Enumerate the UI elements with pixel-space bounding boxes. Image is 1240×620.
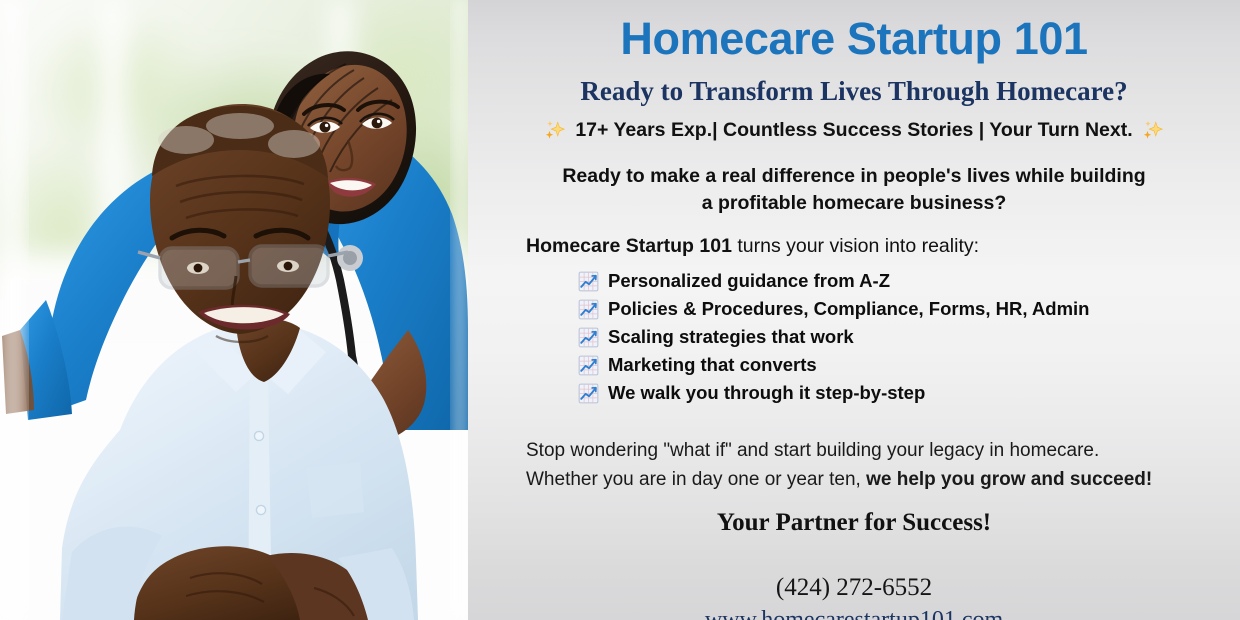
closing-line-2-bold: we help you grow and succeed!	[866, 469, 1152, 490]
question-line-2: a profitable homecare business?	[562, 190, 1145, 217]
chart-increasing-icon	[578, 271, 599, 292]
sparkles-icon	[544, 119, 566, 141]
list-item: Policies & Procedures, Compliance, Forms…	[578, 296, 1089, 324]
list-item: Personalized guidance from A-Z	[578, 268, 1089, 296]
feature-list: Personalized guidance from A-Z Policies …	[578, 268, 1089, 408]
question-line-1: Ready to make a real difference in peopl…	[562, 163, 1145, 190]
closing-line-1: Stop wondering "what if" and start build…	[526, 436, 1152, 465]
phone-number[interactable]: (424) 272-6552	[776, 575, 932, 600]
homecare-startup-banner: Homecare Startup 101 Ready to Transform …	[0, 0, 1240, 620]
closing-paragraph: Stop wondering "what if" and start build…	[526, 436, 1152, 495]
content-panel: Homecare Startup 101 Ready to Transform …	[468, 0, 1240, 620]
leadin-brand: Homecare Startup 101	[526, 235, 732, 257]
feature-label: Scaling strategies that work	[608, 328, 854, 347]
list-item: Scaling strategies that work	[578, 324, 1089, 352]
tagline: Your Partner for Success!	[717, 510, 991, 535]
photo-illustration	[0, 0, 468, 620]
chart-increasing-icon	[578, 383, 599, 404]
leadin-rest: turns your vision into reality:	[732, 235, 979, 257]
credentials-strip: 17+ Years Exp.| Countless Success Storie…	[544, 119, 1163, 141]
question-block: Ready to make a real difference in peopl…	[562, 163, 1145, 217]
chart-increasing-icon	[578, 299, 599, 320]
feature-label: Personalized guidance from A-Z	[608, 272, 890, 291]
sparkles-icon	[1142, 119, 1164, 141]
list-item: Marketing that converts	[578, 352, 1089, 380]
credentials-text: 17+ Years Exp.| Countless Success Storie…	[575, 120, 1132, 141]
feature-label: Policies & Procedures, Compliance, Forms…	[608, 300, 1089, 319]
chart-increasing-icon	[578, 355, 599, 376]
feature-label: We walk you through it step-by-step	[608, 384, 925, 403]
caregiver-client-photo	[0, 0, 468, 620]
feature-label: Marketing that converts	[608, 356, 817, 375]
closing-line-2-plain: Whether you are in day one or year ten,	[526, 469, 866, 490]
closing-line-2: Whether you are in day one or year ten, …	[526, 465, 1152, 494]
leadin-line: Homecare Startup 101 turns your vision i…	[526, 235, 979, 258]
subheadline: Ready to Transform Lives Through Homecar…	[580, 77, 1127, 105]
chart-increasing-icon	[578, 327, 599, 348]
list-item: We walk you through it step-by-step	[578, 380, 1089, 408]
website-url[interactable]: www.homecarestartup101.com	[705, 608, 1003, 620]
page-title: Homecare Startup 101	[620, 16, 1087, 61]
